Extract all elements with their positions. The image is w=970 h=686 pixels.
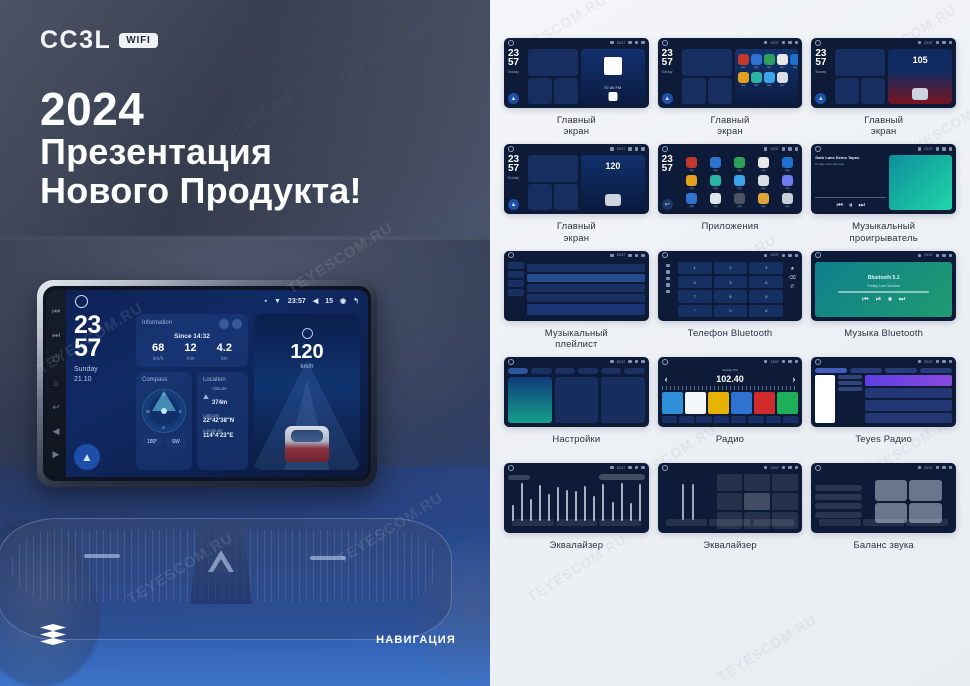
gallery-item[interactable]: 23:572357Sunday▲97.50 FMГлавныйэкран (504, 38, 649, 137)
volume-up-icon[interactable]: ▶ (51, 449, 62, 460)
contacts-icon (666, 270, 670, 274)
thumb-status-bar: 23:57 (658, 463, 803, 472)
volume-icon (628, 41, 632, 45)
layers-icon[interactable] (40, 624, 66, 646)
thumb-status-bar: 23:57 (504, 38, 649, 47)
track-artist: Freaky Love Summer (815, 162, 886, 166)
gallery-item[interactable]: 23:57123456789*0#★⌫✆Телефон Bluetooth (658, 251, 803, 350)
app-icon: App (764, 72, 775, 87)
info-line (838, 387, 862, 391)
dial-key: 5 (714, 276, 748, 288)
gallery-item-caption: Телефон Bluetooth (688, 328, 773, 350)
screenshot-thumbnail[interactable]: 23:572357↩AppAppAppAppAppAppAppAppAppApp… (658, 144, 803, 214)
screenshot-thumbnail[interactable]: 23:57 (504, 251, 649, 321)
thumb-content: Dark Lane Demo TapesFreaky Love Summer⏮⏸… (815, 155, 952, 210)
next-icon: ⏭ (899, 296, 905, 304)
app-label: App (761, 187, 765, 190)
gallery-item[interactable]: 23:57Настройки (504, 357, 649, 456)
back-icon (795, 254, 799, 258)
thumb-clock: 2357Sunday▲ (662, 49, 679, 104)
gallery-item-caption: Главныйэкран (557, 115, 596, 137)
gallery-item[interactable]: 23:572357Sunday▲AppAppAppAppAppAppAppApp… (658, 38, 803, 137)
mountain-icon: ⛰ (203, 394, 209, 402)
thumb-clock-sub: Sunday (508, 70, 525, 74)
wifi-icon (610, 466, 614, 470)
wifi-icon (918, 41, 922, 45)
thumb-tabbar (819, 519, 948, 526)
thumb-status-right: 23:57 (610, 360, 645, 364)
now-playing: Dark Lane Demo TapesFreaky Love Summer⏮⏸… (815, 155, 886, 210)
dial-key: 0 (714, 305, 748, 317)
gallery-item[interactable]: 23:572357Sunday▲105Главныйэкран (811, 38, 956, 137)
back-icon (949, 360, 953, 364)
thumb-content (815, 368, 952, 423)
home-icon (508, 252, 514, 258)
information-widget (528, 49, 578, 76)
app-glyph-icon (764, 72, 775, 83)
thumb-widgets (528, 49, 578, 104)
settings-icon[interactable]: ◉ (340, 297, 346, 305)
station-row (865, 400, 952, 411)
dial-key: # (749, 305, 783, 317)
volume-icon (628, 360, 632, 364)
thumb-content: Reader FM‹102.40› (662, 368, 799, 423)
clock-column: 23 57 Sunday 21.10 ▲ (74, 314, 130, 470)
mini-player-bar (527, 304, 645, 315)
gallery-panel: TEYESCOM.RU TEYESCOM.RU TEYESCOM.RU TEYE… (490, 0, 970, 686)
gallery-item[interactable]: 23:57Эквалайзер (504, 463, 649, 562)
screenshot-thumbnail[interactable]: 23:572357Sunday▲AppAppAppAppAppAppAppApp… (658, 38, 803, 108)
settings-tab (555, 368, 575, 374)
thumb-clock-m: 57 (815, 58, 832, 67)
thumb-time: 23:57 (924, 466, 933, 470)
refresh-icon[interactable] (232, 319, 242, 329)
wifi-icon (764, 147, 768, 151)
screenshot-thumbnail[interactable]: 23:57Dark Lane Demo TapesFreaky Love Sum… (811, 144, 956, 214)
eq-preset-selector (599, 474, 645, 480)
app-label: App (793, 66, 797, 69)
transport-controls: ⏮⏸⏭ (815, 202, 886, 210)
screenshot-thumbnail[interactable]: 23:572357Sunday▲105 (811, 38, 956, 108)
app-glyph-icon (790, 54, 799, 65)
gallery-item[interactable]: 23:57Музыкальныйплейлист (504, 251, 649, 350)
station-list (865, 375, 952, 423)
rail-prev-icon[interactable]: ⏮ (51, 306, 62, 317)
compass-e: E (179, 409, 182, 414)
volume-icon (782, 360, 786, 364)
eq-slider (548, 494, 550, 521)
gallery-item[interactable]: 23:57Reader FM‹102.40›Радио (658, 357, 803, 456)
gallery-item-caption: Эквалайзер (549, 540, 603, 562)
more-card (601, 377, 645, 423)
altitude-value: 374m (212, 400, 227, 406)
app-glyph-icon (758, 193, 769, 204)
settings-tab (601, 368, 621, 374)
teyes-tab (815, 368, 847, 373)
volume-icon (936, 360, 940, 364)
app-glyph-icon (758, 175, 769, 186)
app-label: App (713, 187, 717, 190)
gallery-item[interactable]: 23:57Dark Lane Demo TapesFreaky Love Sum… (811, 144, 956, 243)
settings-tab (624, 368, 644, 374)
thumb-clock: 2357Sunday▲ (815, 49, 832, 104)
station-name: 97.50 FM (581, 85, 645, 90)
gallery-item[interactable]: 23:57Teyes Радио (811, 357, 956, 456)
app-icon: App (752, 175, 774, 190)
information-widget (835, 49, 885, 76)
thumb-status-right: 23:57 (610, 466, 645, 470)
stat-value: 12 (184, 343, 196, 354)
altitude-label: Altitude (212, 386, 227, 391)
wifi-icon (610, 41, 614, 45)
volume-icon (782, 466, 786, 470)
back-icon[interactable]: ↰ (353, 297, 359, 305)
thumb-clock: 2357Sunday▲ (508, 155, 525, 210)
location-title: Location (203, 377, 242, 383)
back-icon (795, 147, 799, 151)
app-icon: App (751, 54, 762, 69)
playlist-sidebar (508, 262, 524, 317)
headline-line1: Презентация (40, 133, 362, 172)
balance-preset (815, 512, 861, 518)
back-icon (641, 466, 645, 470)
compass-needle (161, 408, 167, 414)
bt-title: Bluetooth 5.1 (868, 275, 900, 281)
screenshot-thumbnail[interactable]: 23:572357Sunday▲120 (504, 144, 649, 214)
rail-next-icon[interactable]: ⏭ (51, 330, 62, 341)
app-icon: App (738, 72, 749, 87)
stat-unit: km (217, 356, 232, 362)
settings-icon (635, 147, 639, 151)
screenshot-thumbnail[interactable]: 23:57Bluetooth 5.1Freaky Love Summer⏮⏯⏹⏭ (811, 251, 956, 321)
thumb-time: 23:57 (617, 466, 626, 470)
brand-name: CC3L (40, 28, 111, 53)
head-unit-side-rail[interactable]: ⏮ ⏭ ⏻ ⌂ ↩ ◀ ▶ (46, 290, 66, 477)
information-title: Information (142, 320, 172, 326)
eq-preset-button (717, 493, 743, 510)
location-widget (554, 78, 578, 105)
toolbar-button (731, 416, 746, 423)
lower-widgets: Compass N E S W 180° (136, 372, 248, 470)
compass-widget (528, 184, 552, 211)
settings-tab (508, 368, 528, 374)
gallery-item[interactable]: 23:57Эквалайзер (658, 463, 803, 562)
app-label: App (767, 66, 771, 69)
back-icon[interactable]: ↩ (51, 402, 62, 413)
track-row (527, 294, 645, 302)
app-glyph-icon (710, 193, 721, 204)
thumb-clock-sub: Sunday (508, 176, 525, 180)
carplay-card (555, 377, 599, 423)
thumb-status-bar: 23:57 (658, 38, 803, 47)
wifi-card (508, 377, 552, 423)
app-glyph-icon (764, 54, 775, 65)
toolbar-button (748, 416, 763, 423)
eq-preset-button (717, 474, 743, 491)
compass-s: S (162, 425, 165, 430)
thumb-status-bar: 23:57 (504, 144, 649, 153)
screenshot-thumbnail[interactable]: 23:57 (811, 463, 956, 533)
toolbar-button (662, 416, 677, 423)
volume-icon (936, 466, 940, 470)
app-icon: App (776, 157, 798, 172)
thumb-content (508, 474, 645, 529)
app-icon: App (764, 54, 775, 69)
information-widget (682, 49, 732, 76)
back-icon (641, 41, 645, 45)
screenshot-thumbnail[interactable]: 23:57 (504, 357, 649, 427)
volume-icon (782, 254, 786, 258)
thumb-status-bar: 23:57 (658, 357, 803, 366)
compass-n: N (162, 392, 165, 397)
signal-icon: ▪ (265, 298, 267, 305)
app-icon: App (777, 72, 788, 87)
speed-value: 120 (581, 161, 645, 171)
gallery-item[interactable]: 23:572357Sunday▲120Главныйэкран (504, 144, 649, 243)
settings-icon (942, 360, 946, 364)
wifi-icon (610, 147, 614, 151)
wifi-icon (918, 360, 922, 364)
home-icon[interactable]: ⌂ (51, 378, 62, 389)
hero-panel: TEYESCOM.RU TEYESCOM.RU TEYESCOM.RU TEYE… (0, 0, 490, 686)
app-glyph-icon (777, 54, 788, 65)
app-label: App (741, 66, 745, 69)
thumb-content: 2357↩AppAppAppAppAppAppAppAppAppAppAppAp… (662, 155, 799, 210)
speed-readout: 120 km/h (254, 328, 360, 370)
compass-w: W (146, 409, 150, 414)
app-label: App (780, 66, 784, 69)
thumb-time: 23:57 (617, 41, 626, 45)
screenshot-thumbnail[interactable]: 23:57 (811, 357, 956, 427)
gallery-item-caption: Баланс звука (853, 540, 913, 562)
gear-icon[interactable] (219, 319, 229, 329)
dial-key: 2 (714, 262, 748, 274)
location-widget (554, 184, 578, 211)
thumb-status-bar: 23:57 (504, 357, 649, 366)
altitude-row: ⛰ Altitude 374m (203, 386, 242, 409)
latitude-value: 22°42'38"N (203, 418, 242, 424)
app-icon: App (681, 193, 703, 208)
back-icon (795, 41, 799, 45)
thumb-clock-sub: Sunday (662, 70, 679, 74)
station-row (865, 388, 952, 399)
dial-key: 6 (749, 276, 783, 288)
thumb-tabbar (666, 519, 795, 526)
thumb-status-bar: 23:57 (811, 144, 956, 153)
call-log-icon (666, 283, 670, 287)
power-icon[interactable]: ⏻ (51, 354, 62, 365)
gallery-item-caption: Главныйэкран (711, 115, 750, 137)
thumb-status-bar: 23:57 (811, 38, 956, 47)
thumb-status-right: 23:57 (918, 147, 953, 151)
thumb-status-bar: 23:57 (811, 463, 956, 472)
backspace-icon: ⌫ (789, 275, 796, 281)
volume-icon (628, 466, 632, 470)
next-station-icon: › (792, 374, 795, 384)
brand-logo: CC3L WIFI (40, 28, 158, 53)
app-label: App (737, 205, 741, 208)
dial-key: 1 (678, 262, 712, 274)
home-icon (662, 146, 668, 152)
thumb-time: 23:57 (617, 147, 626, 151)
wifi-icon (918, 466, 922, 470)
home-icon[interactable] (75, 295, 88, 308)
app-label: App (737, 169, 741, 172)
balance-preset (815, 503, 861, 509)
eq-slider (602, 484, 604, 521)
tab-item (709, 519, 751, 526)
back-icon (949, 147, 953, 151)
eq-preset-button (772, 493, 798, 510)
gallery-item-caption: Музыкальныйплейлист (545, 328, 608, 350)
gallery-item-caption: Главныйэкран (864, 115, 903, 137)
app-label: App (761, 169, 765, 172)
back-icon (641, 147, 645, 151)
thumb-status-right: 23:57 (610, 147, 645, 151)
back-icon (949, 41, 953, 45)
speed-value: 120 (254, 342, 360, 362)
thumb-content (815, 474, 952, 529)
back-icon: ↩ (662, 199, 673, 210)
track-row (527, 264, 645, 272)
gallery-item[interactable]: 23:572357↩AppAppAppAppAppAppAppAppAppApp… (658, 144, 803, 243)
eq-preset-button (744, 474, 770, 491)
compass-widget (682, 78, 706, 105)
home-icon (815, 359, 821, 365)
screen-body: 23 57 Sunday 21.10 ▲ Information (74, 314, 360, 470)
app-label: App (689, 205, 693, 208)
gallery-item[interactable]: 23:57Баланс звука (811, 463, 956, 562)
screenshot-grid: 23:572357Sunday▲97.50 FMГлавныйэкран23:5… (504, 38, 956, 562)
visualizer (889, 155, 952, 210)
app-glyph-icon (686, 193, 697, 204)
navigation-arrow-icon[interactable]: ▲ (74, 444, 100, 470)
info-line (838, 381, 862, 385)
volume-down-icon[interactable]: ◀ (51, 426, 62, 437)
prev-station-icon: ‹ (665, 374, 668, 384)
home-icon (508, 146, 514, 152)
eq-slider (639, 484, 641, 521)
track-row (527, 284, 645, 292)
gallery-item[interactable]: 23:57Bluetooth 5.1Freaky Love Summer⏮⏯⏹⏭… (811, 251, 956, 350)
previous-icon: ⏮ (862, 296, 868, 304)
screenshot-thumbnail[interactable]: 23:57123456789*0#★⌫✆ (658, 251, 803, 321)
stat-unit: min (184, 356, 196, 362)
back-icon (949, 254, 953, 258)
stat-item: 68 km/h (152, 343, 164, 362)
speed-unit: km/h (254, 364, 360, 370)
station-row (865, 413, 952, 424)
screenshot-thumbnail[interactable]: 23:57Reader FM‹102.40› (658, 357, 803, 427)
volume-icon (936, 254, 940, 258)
information-header: Information (142, 319, 242, 329)
head-unit-screen[interactable]: ▪ ▼ 23:57 ◀ 15 ◉ ↰ 23 57 Sunday 21.10 (66, 290, 368, 477)
compass-widget[interactable]: Compass N E S W 180° (136, 372, 192, 470)
speed-value: 105 (888, 55, 952, 65)
thumb-tabbar (512, 519, 641, 526)
app-glyph-icon (782, 193, 793, 204)
tab-item (753, 519, 795, 526)
thumb-status-right: 23:57 (764, 41, 799, 45)
app-icon: App (752, 193, 774, 208)
eq-slider (557, 487, 559, 521)
tab-item (599, 519, 641, 526)
list-item (508, 262, 524, 269)
screenshot-thumbnail[interactable]: 23:57 (504, 463, 649, 533)
back-icon (949, 466, 953, 470)
app-icon: App (752, 157, 774, 172)
thumb-status-bar: 23:57 (658, 144, 803, 153)
settings-icon (942, 466, 946, 470)
thumb-time: 23:57 (924, 253, 933, 257)
thumb-content (508, 368, 645, 423)
thumb-time: 23:57 (924, 147, 933, 151)
app-glyph-icon (734, 193, 745, 204)
app-icon: App (681, 175, 703, 190)
station-row (865, 375, 952, 386)
home-icon (662, 359, 668, 365)
navigation-arrow-icon: ▲ (508, 93, 519, 104)
compass-heading: 180° (142, 437, 163, 447)
dial-key: 3 (749, 262, 783, 274)
car-dashboard: ⏮ ⏭ ⏻ ⌂ ↩ ◀ ▶ ▪ ▼ 23:57 ◀ 15 ◉ (0, 232, 490, 686)
compass-readout: 180° SW (142, 437, 186, 447)
location-widget[interactable]: Location ⛰ Altitude 374m Latitude 22°4 (197, 372, 248, 470)
thumb-status-right: 23:57 (610, 41, 645, 45)
eq-slider (593, 496, 595, 521)
thumb-clock: 2357↩ (662, 155, 678, 210)
speaker-icon (875, 480, 908, 501)
wifi-icon (764, 41, 768, 45)
favorite-icon: ★ (790, 266, 794, 272)
information-widget[interactable]: Information Since 14:32 68 km/h (136, 314, 248, 367)
progress-bar (838, 291, 929, 293)
thumb-content: Bluetooth 5.1Freaky Love Summer⏮⏯⏹⏭ (815, 262, 952, 317)
screenshot-thumbnail[interactable]: 23:57 (658, 463, 803, 533)
thumb-status-right: 23:57 (764, 253, 799, 257)
screenshot-thumbnail[interactable]: 23:572357Sunday▲97.50 FM (504, 38, 649, 108)
next-icon: ⏭ (858, 202, 864, 210)
list-item (508, 271, 524, 278)
app-label: App (785, 169, 789, 172)
settings-icon (788, 466, 792, 470)
progress-bar (815, 197, 886, 199)
thumb-widgets (835, 49, 885, 104)
balance-preset (815, 494, 861, 500)
gallery-item-caption: Музыка Bluetooth (844, 328, 923, 350)
home-icon (815, 146, 821, 152)
widgets-column: Information Since 14:32 68 km/h (136, 314, 248, 470)
app-icon: App (705, 157, 727, 172)
home-icon (815, 40, 821, 46)
home-icon (508, 359, 514, 365)
navigation-label: НАВИГАЦИЯ (376, 634, 456, 646)
list-item (508, 289, 524, 296)
app-glyph-icon (686, 175, 697, 186)
back-icon (641, 254, 645, 258)
play-pause-icon: ⏯ (876, 296, 882, 304)
volume-icon (628, 147, 632, 151)
thumb-content: 2357Sunday▲105 (815, 49, 952, 104)
transport-controls: ⏮⏯⏹⏭ (862, 296, 905, 304)
compass-dial: N E S W (142, 389, 186, 433)
eq-slider (584, 486, 586, 521)
thumb-time: 23:57 (770, 466, 779, 470)
settings-tabs (508, 368, 645, 374)
app-glyph-icon (686, 157, 697, 168)
track-list (527, 262, 645, 317)
speed-panel[interactable]: 120 km/h (254, 314, 360, 470)
